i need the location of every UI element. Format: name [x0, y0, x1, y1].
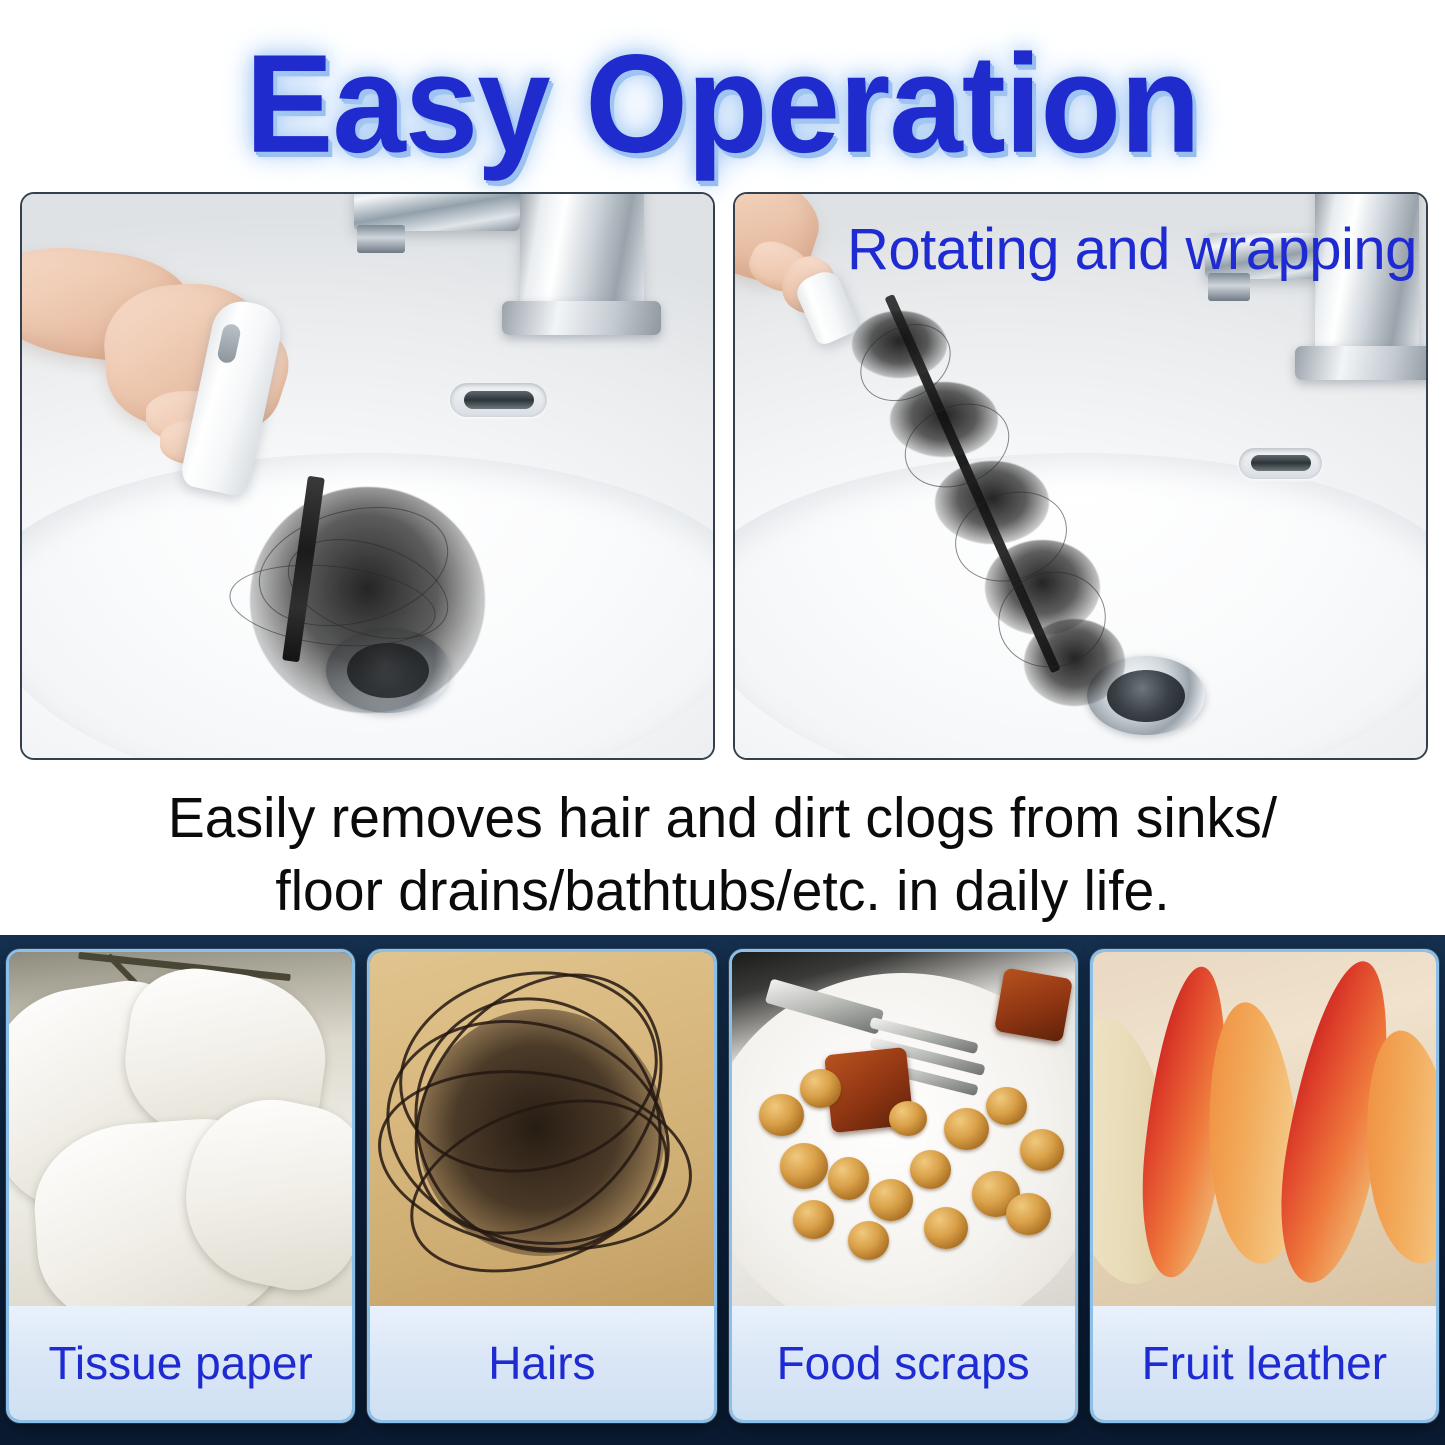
overflow-hole: [450, 383, 547, 417]
category-card-tissue-paper: Tissue paper: [6, 949, 355, 1423]
photo-card-inserting: [20, 192, 715, 760]
category-card-fruit-leather: Fruit leather: [1090, 949, 1439, 1423]
faucet-foot: [502, 301, 661, 335]
category-photo-tissue-paper: [9, 952, 352, 1306]
category-strip: Tissue paper Hairs: [0, 935, 1445, 1445]
drain-snake-right: [846, 296, 1164, 691]
category-label-fruit-leather: Fruit leather: [1093, 1306, 1436, 1420]
description-line-1: Easily removes hair and dirt clogs from …: [22, 782, 1424, 855]
bean: [869, 1179, 914, 1221]
category-card-food-scraps: Food scraps: [729, 949, 1078, 1423]
category-label-hairs: Hairs: [370, 1306, 713, 1420]
description-line-2: floor drains/bathtubs/etc. in daily life…: [22, 855, 1424, 928]
bean: [910, 1150, 951, 1189]
category-photo-hairs: [370, 952, 713, 1306]
bean: [986, 1087, 1027, 1126]
faucet-aerator: [357, 225, 405, 253]
category-card-hairs: Hairs: [367, 949, 716, 1423]
peel-scene: [1093, 952, 1436, 1306]
faucet-foot: [1295, 346, 1428, 380]
bean: [944, 1108, 989, 1150]
title-banner: Easy Operation: [0, 28, 1445, 179]
bean: [793, 1200, 834, 1239]
bean: [780, 1143, 828, 1189]
page-title: Easy Operation: [245, 23, 1199, 183]
tissue-scene: [9, 952, 352, 1306]
hair-scene: [370, 952, 713, 1306]
faucet-body: [520, 192, 644, 318]
category-photo-food-scraps: [732, 952, 1075, 1306]
overflow-hole: [1239, 448, 1322, 479]
food-scene: [732, 952, 1075, 1306]
bean: [1006, 1193, 1051, 1235]
bean: [759, 1094, 804, 1136]
sink-scene-left: [22, 194, 713, 758]
meat-chunk: [994, 968, 1073, 1043]
photo-card-rotating: Rotating and wrapping: [733, 192, 1428, 760]
top-photo-row: Rotating and wrapping: [20, 192, 1428, 760]
category-label-tissue-paper: Tissue paper: [9, 1306, 352, 1420]
rotating-and-wrapping-label: Rotating and wrapping: [847, 216, 1417, 283]
bean: [828, 1157, 869, 1199]
bean: [889, 1101, 927, 1136]
description-text: Easily removes hair and dirt clogs from …: [22, 782, 1424, 928]
infographic-page: Easy Operation: [0, 0, 1445, 1445]
category-label-food-scraps: Food scraps: [732, 1306, 1075, 1420]
bean: [800, 1069, 841, 1108]
category-photo-fruit-leather: [1093, 952, 1436, 1306]
